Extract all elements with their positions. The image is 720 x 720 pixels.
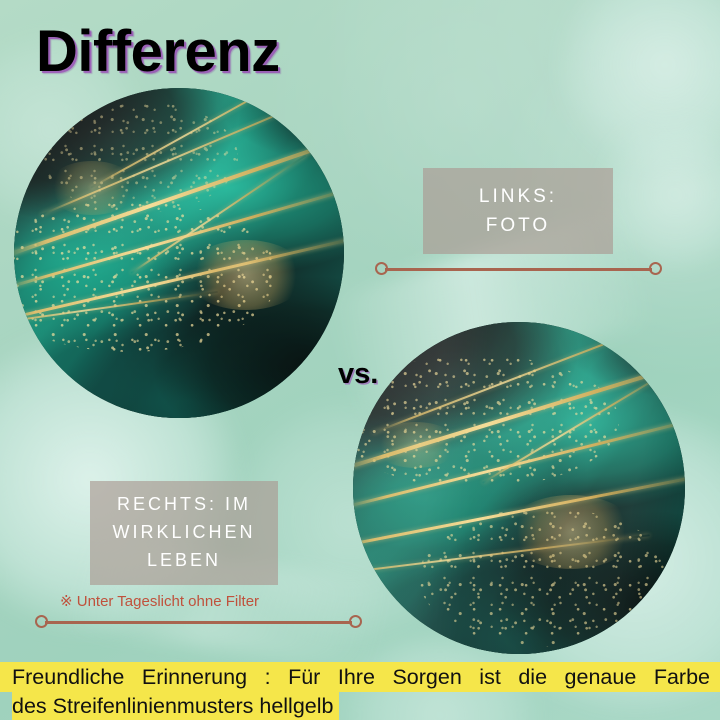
bottom-reminder-banner: Freundliche Erinnerung : Für Ihre Sorgen… [0, 655, 720, 720]
versus-label: vs. [338, 358, 378, 391]
caption-right-line1: RECHTS: IM [117, 494, 251, 514]
divider-ring-right-icon [349, 615, 362, 628]
divider-ring-right-icon [649, 262, 662, 275]
comparison-infographic: Differenz vs. LINKS: FOTO RECHTS: IM WIR… [0, 0, 720, 720]
divider-top [375, 262, 662, 276]
divider-bar [45, 621, 352, 624]
caption-right-line3: LEBEN [147, 550, 221, 570]
caption-left-line2: FOTO [486, 215, 550, 236]
banner-line-1: Freundliche Erinnerung : Für Ihre Sorgen… [0, 662, 720, 692]
left-product-circle-image [14, 88, 344, 418]
divider-bottom [35, 615, 362, 629]
caption-right-line2: WIRKLICHEN [112, 522, 255, 542]
page-title: Differenz [36, 18, 280, 85]
divider-bar [385, 268, 652, 271]
daylight-note: ※ Unter Tageslicht ohne Filter [60, 592, 259, 610]
caption-left-line1: LINKS: [479, 186, 557, 207]
right-product-circle-image [353, 322, 685, 654]
caption-box-right-real-life: RECHTS: IM WIRKLICHEN LEBEN [90, 481, 278, 585]
banner-line-2: des Streifenlinienmusters hellgelb [12, 691, 339, 720]
caption-box-left-photo: LINKS: FOTO [423, 168, 613, 254]
